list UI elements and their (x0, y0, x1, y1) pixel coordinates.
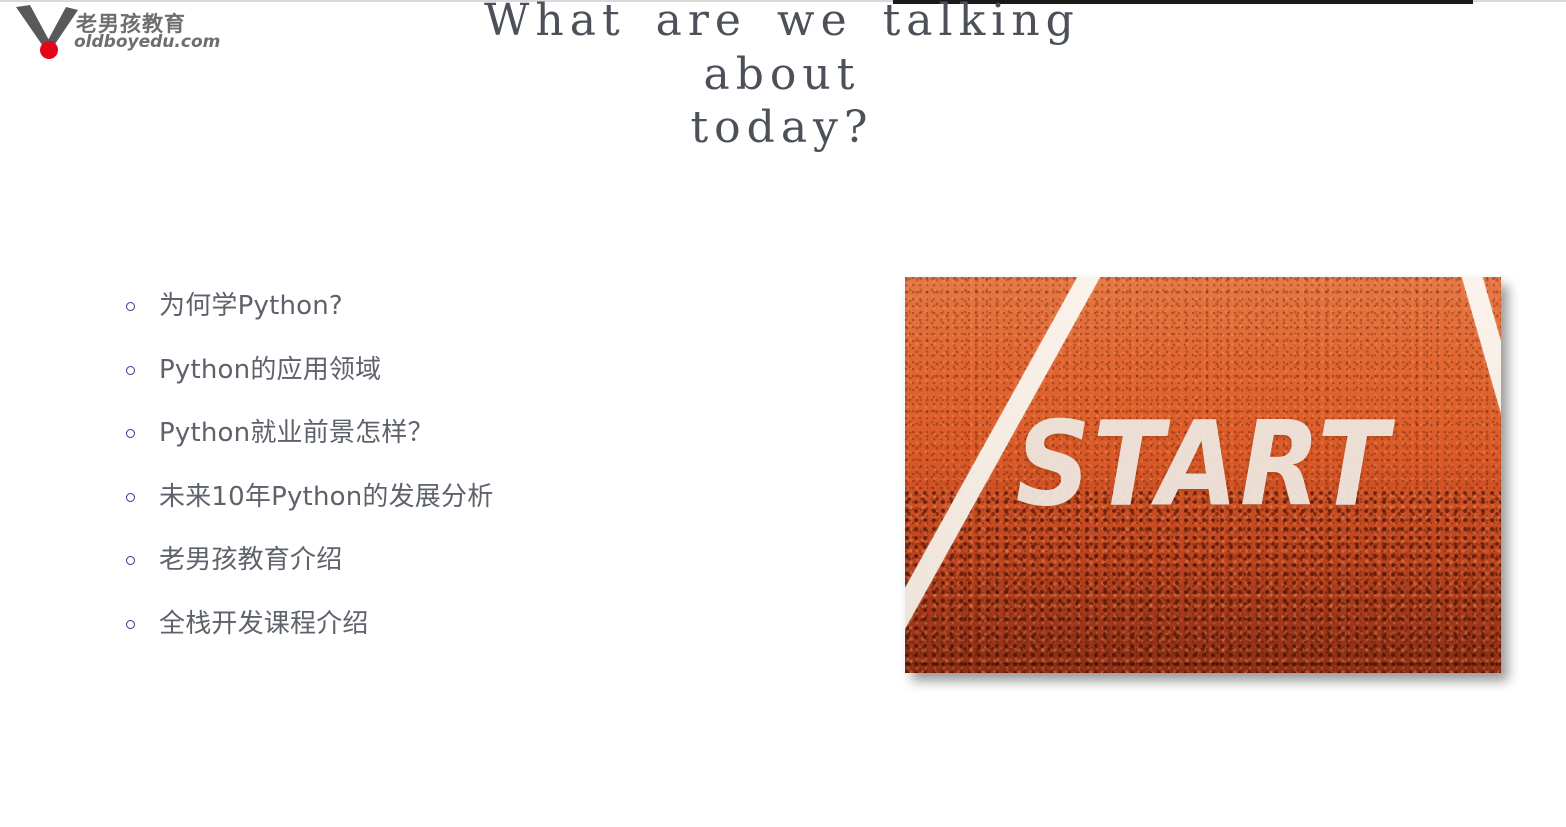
bullet-circle-icon (126, 556, 135, 565)
list-item: 老男孩教育介绍 (126, 526, 826, 590)
list-item: Python就业前景怎样？ (126, 399, 826, 463)
bullet-circle-icon (126, 302, 135, 311)
agenda-list: 为何学Python? Python的应用领域 Python就业前景怎样？ 未来1… (126, 272, 826, 653)
list-item-label: 为何学Python? (159, 285, 343, 322)
list-item: 全栈开发课程介绍 (126, 590, 826, 654)
slide-canvas: 老男孩教育 oldboyedu.com What are we talking … (0, 0, 1566, 827)
bullet-circle-icon (126, 620, 135, 629)
list-item-label: 未来10年Python的发展分析 (159, 476, 493, 513)
bullet-circle-icon (126, 429, 135, 438)
slide-title: What are we talking about today? (402, 0, 1162, 155)
list-item: Python的应用领域 (126, 336, 826, 400)
list-item-label: 老男孩教育介绍 (159, 539, 342, 576)
list-item-label: Python就业前景怎样？ (159, 412, 434, 449)
bullet-circle-icon (126, 493, 135, 502)
start-overlay-text: START (905, 396, 1501, 533)
list-item-label: 全栈开发课程介绍 (159, 603, 369, 640)
list-item: 为何学Python? (126, 272, 826, 336)
bullet-circle-icon (126, 366, 135, 375)
brand-domain: oldboyedu.com (74, 32, 220, 52)
list-item-label: Python的应用领域 (159, 349, 381, 386)
running-track-image: START (905, 277, 1501, 673)
brand-logo: 老男孩教育 oldboyedu.com (14, 4, 204, 62)
list-item: 未来10年Python的发展分析 (126, 463, 826, 527)
